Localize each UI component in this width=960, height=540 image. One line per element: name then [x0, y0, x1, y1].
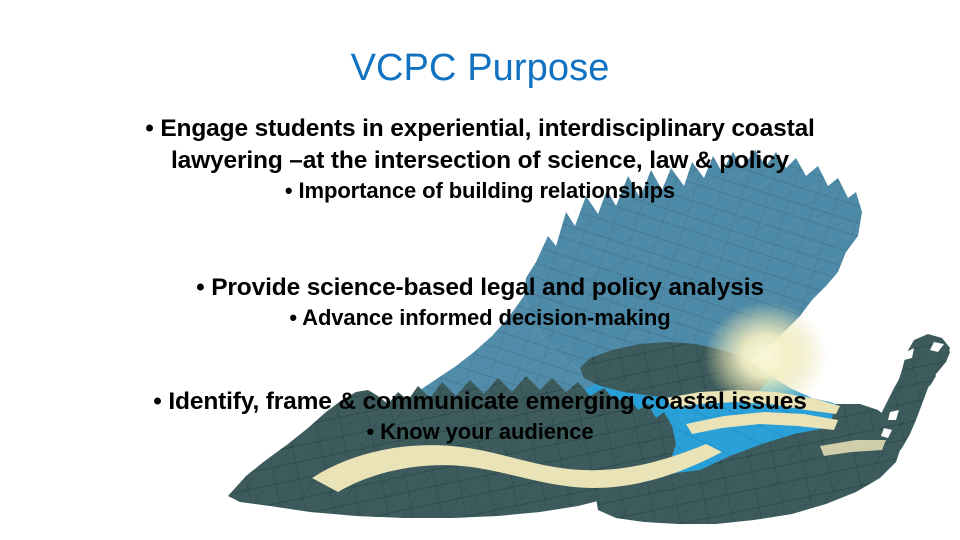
page-title: VCPC Purpose [0, 47, 960, 90]
bullet-line: • Know your audience [30, 418, 930, 447]
bullet-line: • Provide science-based legal and policy… [30, 272, 930, 304]
bullet-block-1: • Engage students in experiential, inter… [30, 113, 930, 205]
slide-text-layer: VCPC Purpose • Engage students in experi… [0, 0, 960, 540]
bullet-line: lawyering –at the intersection of scienc… [30, 145, 930, 177]
slide-canvas: VCPC Purpose • Engage students in experi… [0, 0, 960, 540]
bullet-line: • Identify, frame & communicate emerging… [30, 386, 930, 418]
bullet-line: • Importance of building relationships [30, 177, 930, 206]
bullet-line: • Advance informed decision-making [30, 304, 930, 333]
bullet-line: • Engage students in experiential, inter… [30, 113, 930, 145]
bullet-block-2: • Provide science-based legal and policy… [30, 272, 930, 332]
bullet-block-3: • Identify, frame & communicate emerging… [30, 386, 930, 446]
